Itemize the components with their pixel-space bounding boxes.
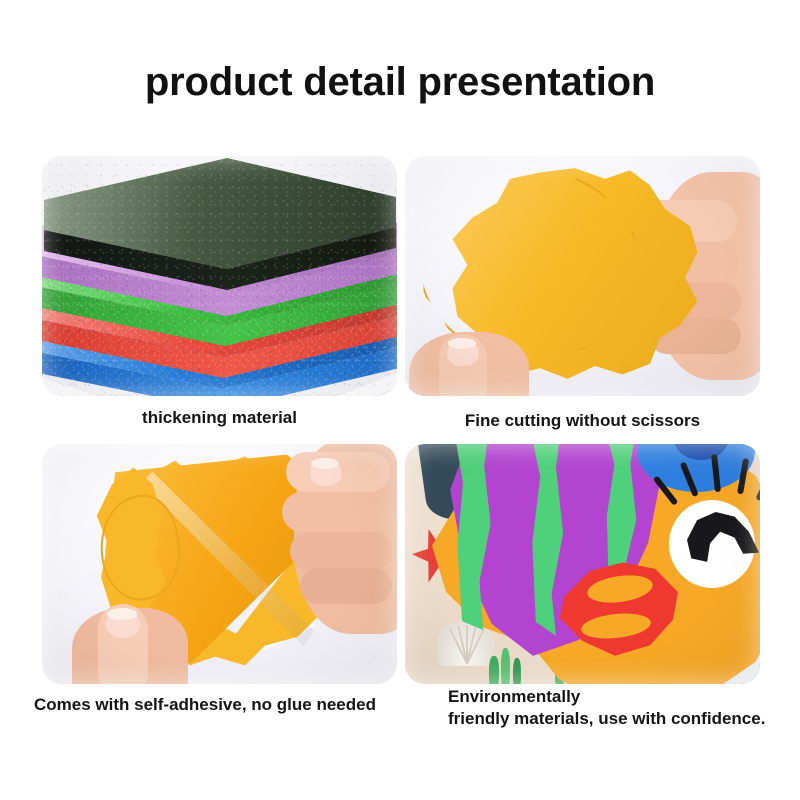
panel-eco-materials-image	[405, 444, 760, 684]
printed-coral	[513, 658, 521, 684]
printed-coral	[501, 648, 510, 684]
page-title: product detail presentation	[0, 60, 800, 105]
panel-die-cut-image	[405, 156, 760, 396]
caption-self-adhesive: Comes with self-adhesive, no glue needed	[34, 694, 424, 716]
caption-eco-friendly: Environmentally friendly materials, use …	[448, 686, 788, 731]
foam-sheet-dark-green	[44, 158, 396, 308]
panel-self-adhesive-image	[42, 444, 397, 684]
printed-coral	[489, 656, 499, 684]
caption-fine-cutting: Fine cutting without scissors	[405, 410, 760, 432]
panel-foam-stack-image	[42, 156, 397, 396]
product-detail-page: product detail presentation	[0, 0, 800, 800]
caption-thickening-material: thickening material	[42, 407, 397, 429]
